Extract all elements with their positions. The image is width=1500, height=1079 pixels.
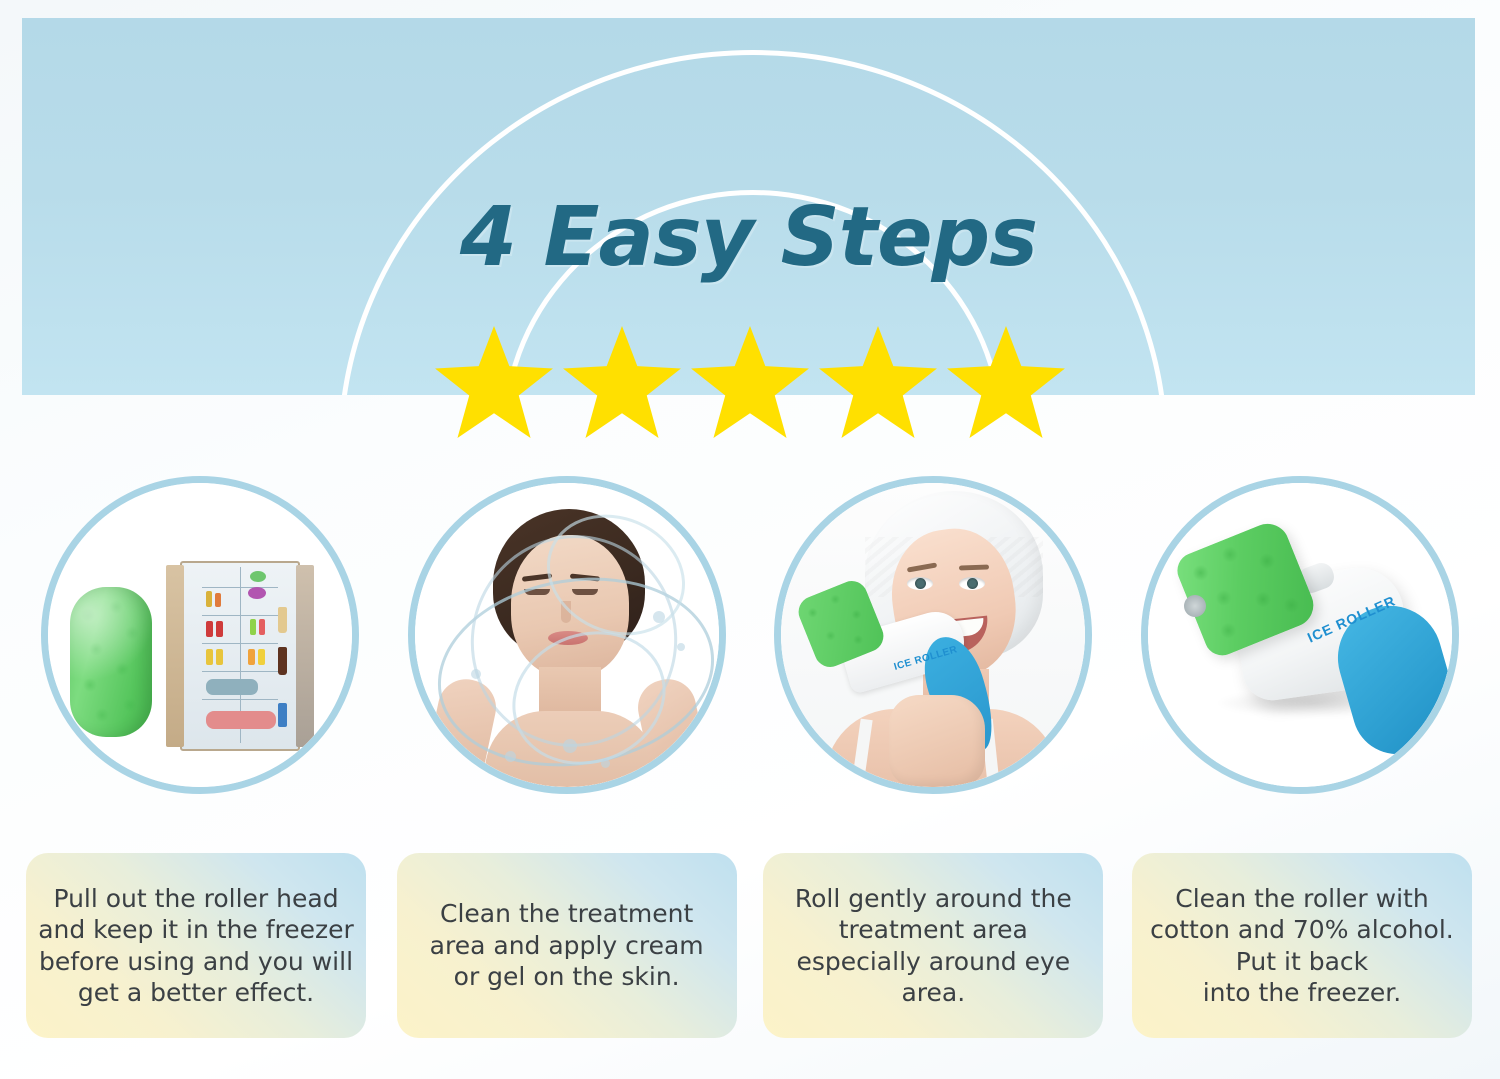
step-1-image-circle <box>41 476 359 794</box>
water-droplet <box>505 751 516 762</box>
fridge-item <box>250 619 256 635</box>
fridge-item <box>259 619 265 635</box>
fridge-item <box>258 649 265 665</box>
refrigerator-door-left <box>166 565 184 747</box>
fridge-shelf <box>202 643 278 644</box>
fridge-item <box>215 593 221 607</box>
fridge-item <box>206 591 212 607</box>
step-2-caption-box: Clean the treatment area and apply cream… <box>397 853 737 1038</box>
water-droplet <box>563 739 577 753</box>
step-3-caption-box: Roll gently around the treatment area es… <box>763 853 1103 1038</box>
step-3-image-circle: ICE ROLLER <box>774 476 1092 794</box>
step-2-image-circle <box>408 476 726 794</box>
step-4: ICE ROLLER Clean the roller with cotton … <box>1122 400 1478 1060</box>
steps-row: Pull out the roller head and keep it in … <box>22 400 1478 1060</box>
eyebrow-right <box>959 564 989 570</box>
step-1-caption-box: Pull out the roller head and keep it in … <box>26 853 366 1038</box>
refrigerator-door-right <box>296 565 314 747</box>
fridge-item <box>248 587 266 599</box>
woman-with-roller-photo: ICE ROLLER <box>781 483 1085 787</box>
step-4-scene-product-closeup: ICE ROLLER <box>1148 483 1452 787</box>
ice-roller-product-photo: ICE ROLLER <box>1148 483 1452 787</box>
fridge-shelf <box>202 615 278 616</box>
refrigerator-body <box>180 561 300 751</box>
step-3: ICE ROLLER Roll gently around the treatm… <box>755 400 1111 1060</box>
fridge-item <box>278 607 287 633</box>
fridge-item <box>206 649 213 665</box>
fridge-item <box>206 621 213 637</box>
fridge-item <box>250 571 266 582</box>
step-2-caption-text: Clean the treatment area and apply cream… <box>430 898 704 993</box>
page-title: 4 Easy Steps <box>22 190 1475 285</box>
step-4-caption-text: Clean the roller with cotton and 70% alc… <box>1150 883 1454 1009</box>
fridge-item <box>206 711 276 729</box>
infographic-page: 4 Easy Steps <box>0 0 1500 1079</box>
refrigerator-icon <box>166 561 314 751</box>
step-1-scene-roller-and-fridge <box>48 483 352 787</box>
hand-holding-roller <box>889 695 985 787</box>
step-1-caption-text: Pull out the roller head and keep it in … <box>38 883 354 1009</box>
water-droplet <box>677 643 685 651</box>
header-band: 4 Easy Steps <box>22 18 1475 395</box>
step-4-caption-box: Clean the roller with cotton and 70% alc… <box>1132 853 1472 1038</box>
fridge-shelf <box>202 587 278 588</box>
fridge-item <box>206 679 258 695</box>
step-3-scene-woman-using-roller: ICE ROLLER <box>781 483 1085 787</box>
water-droplet <box>471 669 481 679</box>
fridge-item <box>248 649 255 665</box>
water-droplet <box>601 759 610 768</box>
step-3-caption-text: Roll gently around the treatment area es… <box>795 883 1072 1009</box>
fridge-item <box>278 703 287 727</box>
fridge-item <box>216 621 223 637</box>
step-2-scene-face-washing <box>415 483 719 787</box>
step-1: Pull out the roller head and keep it in … <box>22 400 378 1060</box>
step-2: Clean the treatment area and apply cream… <box>389 400 745 1060</box>
fridge-shelf <box>202 699 278 700</box>
face-wash-photo <box>415 483 719 787</box>
fridge-shelf <box>202 671 278 672</box>
green-roller-head-icon <box>70 587 152 737</box>
fridge-item <box>216 649 223 665</box>
water-droplet <box>653 611 665 623</box>
fridge-item <box>278 647 287 675</box>
step-4-image-circle: ICE ROLLER <box>1141 476 1459 794</box>
